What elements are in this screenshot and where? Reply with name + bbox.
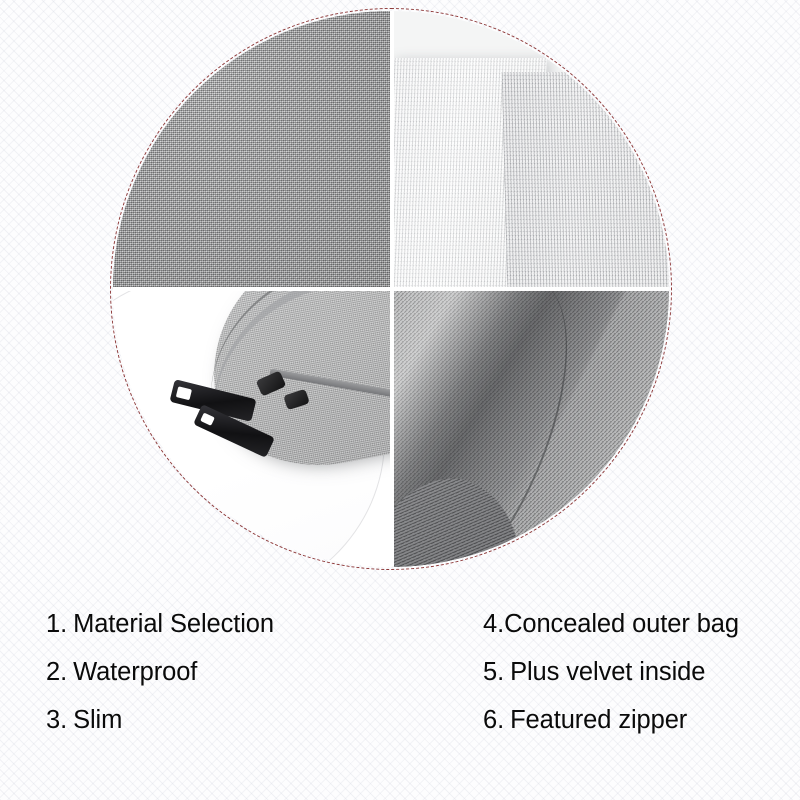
- feature-list: 1. Material Selection 2. Waterproof 3. S…: [0, 612, 800, 800]
- feature-label-6: Featured zipper: [510, 708, 687, 734]
- feature-label-5: Plus velvet inside: [510, 660, 705, 686]
- feature-item-6: 6. Featured zipper: [483, 708, 800, 756]
- feature-item-4: 4. Concealed outer bag: [483, 612, 800, 660]
- feature-number-5: 5.: [483, 660, 504, 686]
- velvet-texture: [391, 11, 669, 289]
- velvet-fold-right: [502, 72, 669, 289]
- feature-number-6: 6.: [483, 708, 504, 734]
- quadrant-top-left-material: [113, 11, 391, 289]
- linen-texture: [113, 11, 391, 289]
- quadrant-bottom-left-zipper: [113, 289, 391, 567]
- feature-number-3: 3.: [46, 708, 67, 734]
- feature-item-1: 1. Material Selection: [46, 612, 446, 660]
- folded-twill-texture: [391, 289, 669, 567]
- feature-label-2: Waterproof: [73, 660, 197, 686]
- feature-number-1: 1.: [46, 612, 67, 638]
- feature-label-1: Material Selection: [73, 612, 274, 638]
- feature-item-2: 2. Waterproof: [46, 660, 446, 708]
- feature-column-right: 4. Concealed outer bag 5. Plus velvet in…: [483, 612, 800, 756]
- quadrant-top-right-velvet: [391, 11, 669, 289]
- feature-number-2: 2.: [46, 660, 67, 686]
- hero-circle-collage: [0, 0, 800, 600]
- feature-number-4: 4.: [483, 612, 504, 638]
- feature-label-4: Concealed outer bag: [504, 612, 739, 638]
- feature-item-3: 3. Slim: [46, 708, 446, 756]
- feature-item-5: 5. Plus velvet inside: [483, 660, 800, 708]
- quadrant-photo-disc: [113, 11, 669, 567]
- quadrant-bottom-right-folded-fabric: [391, 289, 669, 567]
- feature-column-left: 1. Material Selection 2. Waterproof 3. S…: [46, 612, 446, 756]
- quadrant-divider-horizontal: [113, 287, 669, 291]
- feature-label-3: Slim: [73, 708, 122, 734]
- zipper-scene: [113, 289, 391, 567]
- product-infographic-page: 1. Material Selection 2. Waterproof 3. S…: [0, 0, 800, 800]
